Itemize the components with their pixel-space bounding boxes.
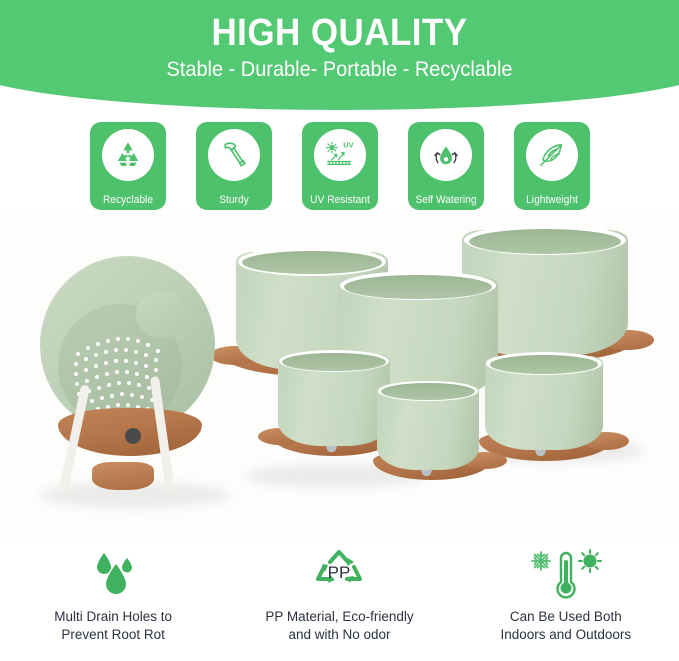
feature-caption: Multi Drain Holes to Prevent Root Rot <box>54 608 172 644</box>
water-drop-cycle-icon <box>429 138 463 172</box>
feature-icon-wrap <box>85 548 141 604</box>
feature-indoor-outdoor: Can Be Used Both Indoors and Outdoors <box>453 548 679 661</box>
svg-text:UV: UV <box>343 141 353 150</box>
pot-interior <box>490 355 599 374</box>
pot-inverted-showing-drainage <box>40 256 215 434</box>
feature-caption-line1: PP Material, Eco-friendly <box>265 608 413 626</box>
uv-sun-icon: UV <box>322 138 358 172</box>
snowflake-thermometer-sun-icon <box>527 548 605 605</box>
page-title: HIGH QUALITY <box>27 14 652 54</box>
feature-drain-holes: Multi Drain Holes to Prevent Root Rot <box>0 548 226 661</box>
badge-label: Sturdy <box>198 194 269 206</box>
pp-label: PP <box>328 563 351 582</box>
pot-smallest-front-center <box>377 384 479 470</box>
pot-interior <box>469 229 622 254</box>
hammer-icon <box>218 139 250 171</box>
badge-label: Self Watering <box>410 194 481 206</box>
product-photo <box>0 214 679 544</box>
pot-interior <box>344 275 491 299</box>
badge-icon-wrap <box>208 129 260 181</box>
badge-icon-wrap <box>420 129 472 181</box>
badge-label: Recyclable <box>92 194 163 206</box>
header-banner: HIGH QUALITY Stable - Durable- Portable … <box>0 0 679 112</box>
feature-caption: PP Material, Eco-friendly and with No od… <box>265 608 413 644</box>
pot-small-front-left <box>278 354 390 446</box>
feature-caption-line2: Indoors and Outdoors <box>501 626 632 644</box>
feature-caption: Can Be Used Both Indoors and Outdoors <box>501 608 632 644</box>
header-text-group: HIGH QUALITY Stable - Durable- Portable … <box>0 0 679 81</box>
badge-label: UV Resistant <box>304 194 375 206</box>
feature-pp-material: PP PP Material, Eco-friendly and with No… <box>226 548 452 661</box>
feature-caption-line2: and with No odor <box>265 626 413 644</box>
pot-small-front-right <box>485 356 603 450</box>
water-level-indicator <box>125 428 141 444</box>
badge-self-watering: Self Watering <box>408 122 484 210</box>
feature-caption-line1: Can Be Used Both <box>501 608 632 626</box>
feature-list: Multi Drain Holes to Prevent Root Rot <box>0 548 679 661</box>
feature-icon-wrap: PP <box>310 548 368 604</box>
feather-icon <box>535 138 569 172</box>
recycle-icon <box>111 138 145 172</box>
badge-icon-wrap: UV <box>314 129 366 181</box>
pp-recycle-icon: PP <box>310 548 368 605</box>
badge-lightweight: Lightweight <box>514 122 590 210</box>
badge-recyclable: Recyclable <box>90 122 166 210</box>
feature-caption-line2: Prevent Root Rot <box>54 626 172 644</box>
feature-icon-wrap <box>527 548 605 604</box>
water-drops-icon <box>85 549 141 604</box>
badge-icon-wrap <box>526 129 578 181</box>
badge-uv-resistant: UV UV Resistant <box>302 122 378 210</box>
page-subtitle: Stable - Durable- Portable - Recyclable <box>17 58 662 81</box>
badge-icon-wrap <box>102 129 154 181</box>
badge-label: Lightweight <box>516 194 587 206</box>
feature-badge-row: Recyclable Sturdy <box>0 122 679 214</box>
badge-sturdy: Sturdy <box>196 122 272 210</box>
detached-saucer-clip <box>92 462 154 490</box>
feature-caption-line1: Multi Drain Holes to <box>54 608 172 626</box>
